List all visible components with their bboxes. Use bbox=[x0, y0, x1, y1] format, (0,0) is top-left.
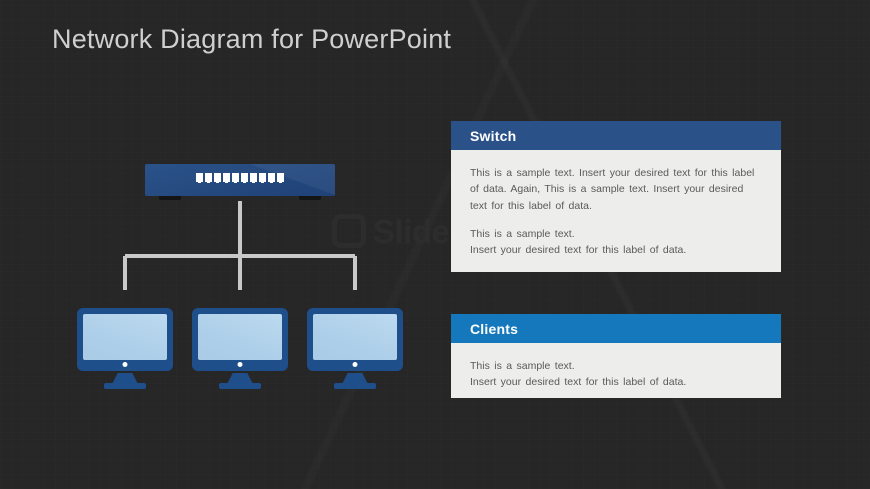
ethernet-port-icon bbox=[259, 173, 266, 182]
page-title: Network Diagram for PowerPoint bbox=[52, 24, 451, 55]
monitor-stand-base bbox=[219, 383, 261, 389]
switch-foot-right bbox=[299, 196, 321, 200]
panel-clients-title: Clients bbox=[470, 321, 518, 337]
panel-clients-line-2: Insert your desired text for this label … bbox=[470, 376, 686, 388]
panel-switch[interactable]: Switch This is a sample text. Insert you… bbox=[451, 121, 781, 272]
ethernet-port-icon bbox=[268, 173, 275, 182]
monitor-power-dot-icon bbox=[238, 362, 243, 367]
panel-switch-paragraph-2: This is a sample text. Insert your desir… bbox=[470, 226, 759, 259]
switch-port-row bbox=[145, 173, 335, 182]
slidemodel-logo-icon bbox=[332, 214, 366, 248]
client-monitor-3[interactable] bbox=[307, 308, 403, 392]
monitor-screen bbox=[313, 314, 397, 360]
ethernet-port-icon bbox=[250, 173, 257, 182]
monitor-power-dot-icon bbox=[353, 362, 358, 367]
panel-clients-body: This is a sample text. Insert your desir… bbox=[451, 343, 781, 391]
panel-clients-line-1: This is a sample text. bbox=[470, 360, 575, 372]
panel-clients-header: Clients bbox=[451, 314, 781, 343]
client-monitor-1[interactable] bbox=[77, 308, 173, 392]
panel-switch-title: Switch bbox=[470, 128, 516, 144]
switch-foot-left bbox=[159, 196, 181, 200]
monitor-screen bbox=[198, 314, 282, 360]
client-monitor-2[interactable] bbox=[192, 308, 288, 392]
panel-switch-paragraph-2-line-1: This is a sample text. bbox=[470, 228, 575, 240]
panel-switch-header: Switch bbox=[451, 121, 781, 150]
network-switch-device[interactable] bbox=[145, 164, 335, 196]
panel-switch-paragraph-1: This is a sample text. Insert your desir… bbox=[470, 165, 759, 214]
ethernet-port-icon bbox=[241, 173, 248, 182]
panel-switch-body: This is a sample text. Insert your desir… bbox=[451, 150, 781, 258]
monitor-stand-base bbox=[104, 383, 146, 389]
monitor-screen bbox=[83, 314, 167, 360]
ethernet-port-icon bbox=[223, 173, 230, 182]
panel-clients[interactable]: Clients This is a sample text. Insert yo… bbox=[451, 314, 781, 398]
panel-switch-paragraph-2-line-2: Insert your desired text for this label … bbox=[470, 244, 686, 256]
ethernet-port-icon bbox=[205, 173, 212, 182]
panel-clients-paragraph: This is a sample text. Insert your desir… bbox=[470, 358, 759, 391]
monitor-power-dot-icon bbox=[123, 362, 128, 367]
ethernet-port-icon bbox=[232, 173, 239, 182]
ethernet-port-icon bbox=[277, 173, 284, 182]
ethernet-port-icon bbox=[196, 173, 203, 182]
monitor-stand-base bbox=[334, 383, 376, 389]
slide-canvas: Network Diagram for PowerPoint SlideMode… bbox=[0, 0, 870, 489]
ethernet-port-icon bbox=[214, 173, 221, 182]
